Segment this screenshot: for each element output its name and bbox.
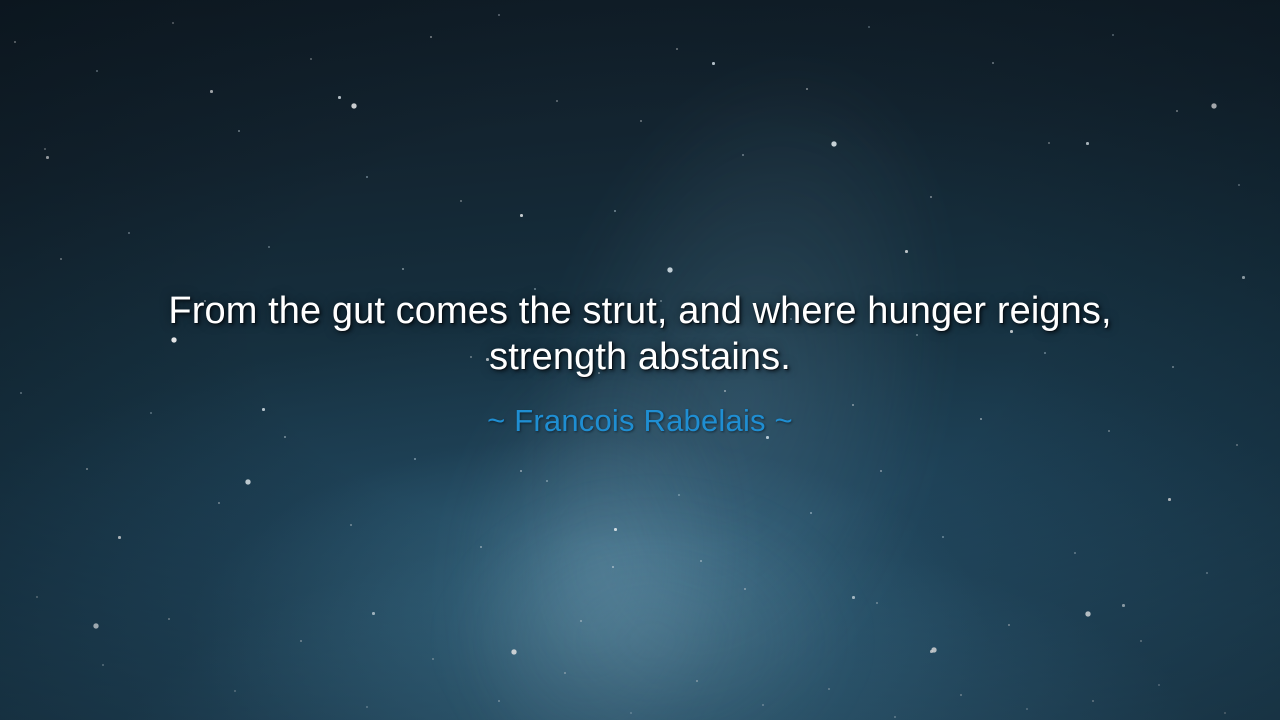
quote-card: From the gut comes the strut, and where … — [0, 0, 1280, 720]
quote-text: From the gut comes the strut, and where … — [120, 288, 1160, 380]
quote-content: From the gut comes the strut, and where … — [0, 288, 1280, 439]
quote-attribution: ~ Francois Rabelais ~ — [120, 403, 1160, 439]
